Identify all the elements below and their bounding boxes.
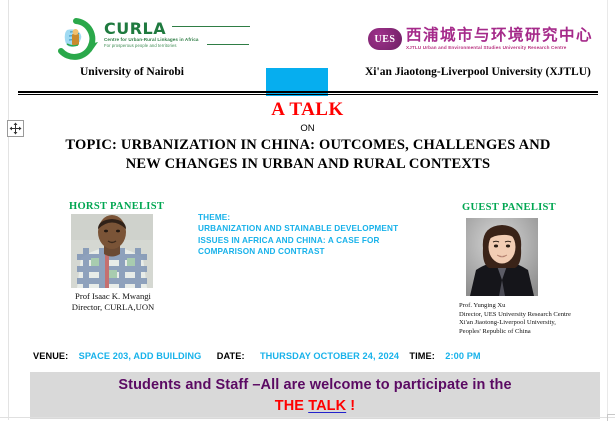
host-panelist-label: HORST PANELIST — [69, 201, 164, 212]
guest-name: Prof. Yunging Xu — [459, 302, 611, 311]
banner-prefix: THE — [275, 398, 308, 414]
theme-label: THEME: — [198, 212, 444, 223]
talk-theme: THEME: URBANIZATION AND STAINABLE DEVELO… — [198, 212, 444, 258]
topic-line-1: TOPIC: URBANIZATION IN CHINA: OUTCOMES, … — [18, 136, 598, 155]
topic-line-2: NEW CHANGES IN URBAN AND RURAL CONTEXTS — [18, 155, 598, 174]
curla-word: CURLA — [104, 21, 199, 37]
curla-tagline-2: For prosperous people and territories — [104, 43, 199, 49]
page-title: A TALK — [0, 99, 615, 121]
theme-line-2: ISSUES IN AFRICA AND CHINA: A CASE FOR — [198, 235, 444, 246]
poster-header: CURLA Centre for Urban-Rural Linkages in… — [0, 8, 615, 80]
host-name: Prof Isaac K. Mwangi — [52, 291, 174, 302]
date-label: DATE: — [217, 351, 245, 361]
event-details: VENUE: SPACE 203, ADD BUILDING DATE: THU… — [33, 351, 481, 361]
curla-rule-bottom — [207, 44, 249, 45]
banner-line-1: Students and Staff –All are welcome to p… — [30, 377, 600, 393]
venue-value: SPACE 203, ADD BUILDING — [79, 351, 202, 361]
guest-panelist-label: GUEST PANELIST — [462, 202, 556, 213]
time-value: 2:00 PM — [445, 351, 480, 361]
university-of-nairobi-label: University of Nairobi — [80, 66, 184, 78]
banner-line-2: THE TALK ! — [30, 398, 600, 414]
page-bottom-edge — [0, 417, 615, 418]
talk-link[interactable]: TALK — [308, 398, 346, 414]
curla-rule-top — [172, 26, 250, 27]
ues-chinese-name: 西浦城市与环境研究中心 — [406, 26, 593, 44]
ues-english-name: XJTLU Urban and Environmental Studies Un… — [406, 45, 566, 50]
title-connector: ON — [0, 123, 615, 134]
curla-circular-africa-logo-icon — [52, 18, 100, 60]
ues-badge-icon: UES — [368, 28, 402, 50]
venue-label: VENUE: — [33, 351, 68, 361]
header-divider — [18, 91, 598, 95]
guest-panelist-photo — [466, 218, 538, 296]
xjtlu-label: Xi'an Jiaotong-Liverpool University (XJT… — [365, 66, 591, 78]
ues-logo: UES 西浦城市与环境研究中心 XJTLU Urban and Environm… — [368, 26, 590, 60]
theme-line-1: URBANIZATION AND STAINABLE DEVELOPMENT — [198, 223, 444, 234]
guest-affiliation: Xi'an Jiaotong-Liverpool University, — [459, 319, 611, 328]
host-panelist-photo — [71, 214, 153, 288]
talk-topic: TOPIC: URBANIZATION IN CHINA: OUTCOMES, … — [18, 136, 598, 174]
guest-panelist-caption: Prof. Yunging Xu Director, UES Universit… — [459, 302, 611, 336]
host-title: Director, CURLA,UON — [52, 302, 174, 313]
time-label: TIME: — [409, 351, 435, 361]
date-value: THURSDAY OCTOBER 24, 2024 — [260, 351, 399, 361]
guest-country: Peoples' Republic of China — [459, 328, 611, 337]
host-panelist-caption: Prof Isaac K. Mwangi Director, CURLA,UON — [52, 291, 174, 313]
curla-logo: CURLA Centre for Urban-Rural Linkages in… — [52, 18, 252, 60]
guest-title: Director, UES University Research Centre — [459, 311, 611, 320]
document-page: CURLA Centre for Urban-Rural Linkages in… — [0, 0, 615, 420]
theme-line-3: COMPARISON AND CONTRAST — [198, 246, 444, 257]
banner-suffix: ! — [346, 398, 355, 414]
welcome-banner: Students and Staff –All are welcome to p… — [30, 372, 600, 419]
